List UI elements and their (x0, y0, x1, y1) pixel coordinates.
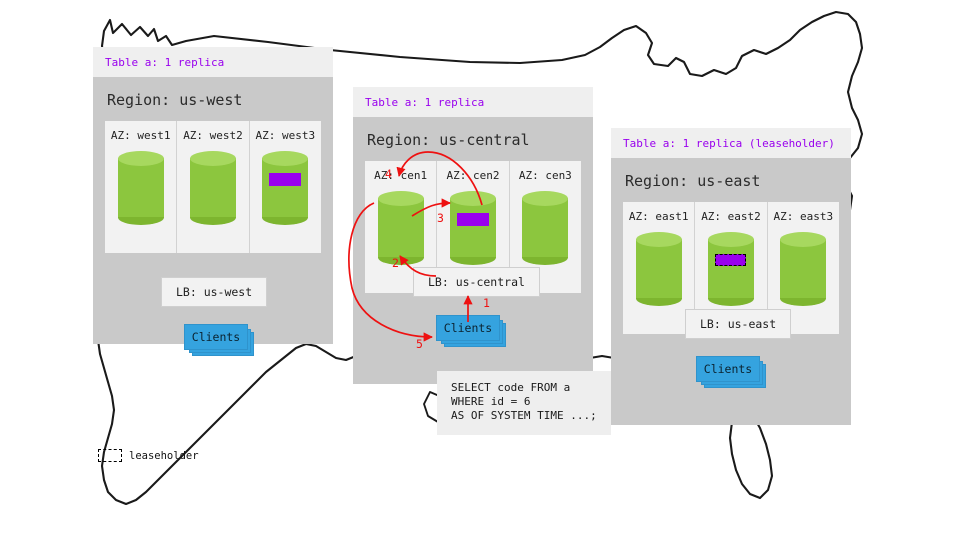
replica-marker-cen2 (457, 213, 489, 226)
clients-us-central[interactable]: Clients (436, 315, 506, 343)
cylinder-top (636, 232, 682, 247)
replica-marker-west3 (269, 173, 301, 186)
az-label-cen1: AZ: cen1 (374, 169, 427, 182)
cylinder-top (708, 232, 754, 247)
region-panel-us-central: Table a: 1 replica Region: us-central AZ… (353, 87, 593, 384)
region-header-us-central: Table a: 1 replica (353, 87, 593, 117)
legend: leaseholder (98, 449, 199, 462)
replica-marker-east2-leaseholder (715, 254, 746, 266)
cylinder-top (378, 191, 424, 206)
clients-label-us-east: Clients (696, 356, 760, 382)
load-balancer-us-east[interactable]: LB: us-east (685, 309, 791, 339)
region-panel-us-west: Table a: 1 replica Region: us-west AZ: w… (93, 47, 333, 344)
az-west1[interactable]: AZ: west1 (105, 121, 177, 253)
az-west3[interactable]: AZ: west3 (250, 121, 321, 253)
clients-us-west[interactable]: Clients (184, 324, 254, 352)
arrow-label-1: 1 (483, 296, 490, 310)
az-label-east3: AZ: east3 (774, 210, 834, 223)
cylinder-top (780, 232, 826, 247)
cylinder-body-front (118, 165, 164, 217)
cylinder-west1[interactable] (118, 151, 164, 225)
region-title-us-central: Region: us-central (365, 127, 581, 161)
region-header-us-east: Table a: 1 replica (leaseholder) (611, 128, 851, 158)
legend-label: leaseholder (129, 450, 199, 462)
az-west2[interactable]: AZ: west2 (177, 121, 249, 253)
cylinder-top (262, 151, 308, 166)
cylinder-body-front (522, 205, 568, 257)
cylinder-west3[interactable] (262, 151, 308, 225)
load-balancer-us-west[interactable]: LB: us-west (161, 277, 267, 307)
sql-query-box: SELECT code FROM a WHERE id = 6 AS OF SY… (437, 371, 611, 435)
cylinder-body-front (780, 246, 826, 298)
cylinder-top (450, 191, 496, 206)
clients-label-us-west: Clients (184, 324, 248, 350)
cylinder-cen2[interactable] (450, 191, 496, 265)
az-label-east1: AZ: east1 (629, 210, 689, 223)
dashed-rect-icon (98, 449, 122, 462)
clients-label-us-central: Clients (436, 315, 500, 341)
cylinder-body-front (636, 246, 682, 298)
arrow-label-2: 2 (392, 256, 399, 270)
region-title-us-west: Region: us-west (105, 87, 321, 121)
region-header-us-west: Table a: 1 replica (93, 47, 333, 77)
cylinder-east2[interactable] (708, 232, 754, 306)
arrow-label-4: 4 (385, 167, 392, 181)
az-label-cen2: AZ: cen2 (447, 169, 500, 182)
region-panel-us-east: Table a: 1 replica (leaseholder) Region:… (611, 128, 851, 425)
cylinder-cen3[interactable] (522, 191, 568, 265)
az-label-west1: AZ: west1 (111, 129, 171, 142)
az-label-west3: AZ: west3 (256, 129, 316, 142)
cylinder-east1[interactable] (636, 232, 682, 306)
cylinder-cen1[interactable] (378, 191, 424, 265)
az-label-cen3: AZ: cen3 (519, 169, 572, 182)
clients-us-east[interactable]: Clients (696, 356, 766, 384)
diagram-canvas: Table a: 1 replica Region: us-west AZ: w… (0, 0, 960, 540)
cylinder-body-front (378, 205, 424, 257)
load-balancer-us-central[interactable]: LB: us-central (413, 267, 540, 297)
arrow-label-5: 5 (416, 337, 423, 351)
region-title-us-east: Region: us-east (623, 168, 839, 202)
cylinder-body-front (190, 165, 236, 217)
az-label-west2: AZ: west2 (183, 129, 243, 142)
cylinder-top (118, 151, 164, 166)
az-strip-us-west: AZ: west1 AZ: west2 (105, 121, 321, 253)
arrow-label-3: 3 (437, 211, 444, 225)
az-label-east2: AZ: east2 (701, 210, 761, 223)
cylinder-top (522, 191, 568, 206)
cylinder-east3[interactable] (780, 232, 826, 306)
cylinder-top (190, 151, 236, 166)
cylinder-west2[interactable] (190, 151, 236, 225)
